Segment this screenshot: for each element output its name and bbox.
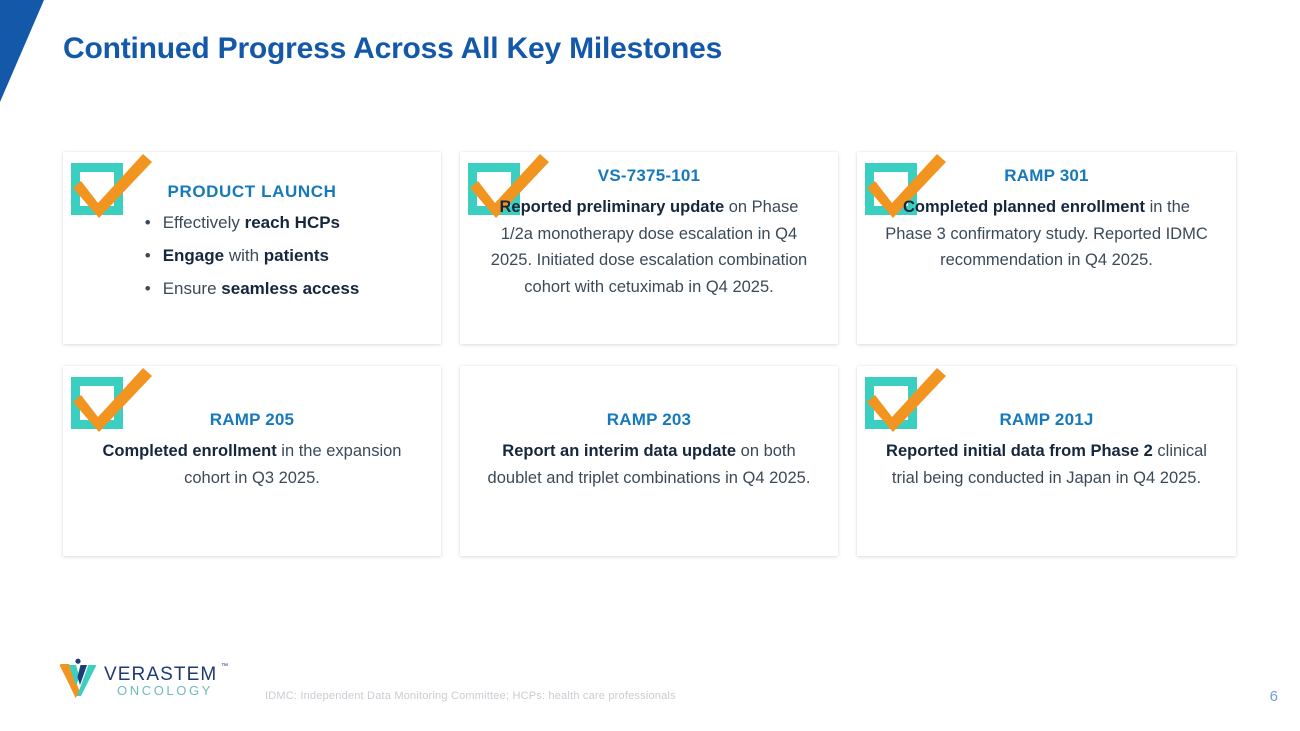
svg-text:™: ™	[221, 663, 228, 670]
card-body-text: Reported initial data from Phase 2 clini…	[882, 438, 1212, 491]
page-title: Continued Progress Across All Key Milest…	[63, 32, 722, 66]
card-content: RAMP 301Completed planned enrollment in …	[857, 152, 1236, 344]
card-body-text: Report an interim data update on both do…	[484, 438, 814, 491]
page-number: 6	[1270, 688, 1278, 705]
milestone-card-ramp-203: RAMP 203Report an interim data update on…	[460, 366, 838, 556]
verastem-logo: VERASTEM ™ ONCOLOGY	[58, 658, 238, 700]
card-bullet-list: Effectively reach HCPsEngage with patien…	[145, 214, 360, 313]
card-body-text: Completed enrollment in the expansion co…	[87, 438, 417, 491]
milestone-card-ramp-301: RAMP 301Completed planned enrollment in …	[857, 152, 1236, 344]
card-title-product-launch: PRODUCT LAUNCH	[168, 182, 337, 202]
milestone-card-product-launch: PRODUCT LAUNCHEffectively reach HCPsEnga…	[63, 152, 441, 344]
list-item: Engage with patients	[145, 247, 360, 264]
corner-wedge-decoration	[0, 0, 44, 102]
milestone-card-ramp-201j: RAMP 201JReported initial data from Phas…	[857, 366, 1236, 556]
svg-text:ONCOLOGY: ONCOLOGY	[117, 683, 213, 698]
card-title-vs-7375-101: VS-7375-101	[598, 166, 700, 186]
svg-text:VERASTEM: VERASTEM	[104, 664, 217, 685]
card-title-ramp-203: RAMP 203	[607, 410, 691, 430]
footnote-abbreviations: IDMC: Independent Data Monitoring Commit…	[265, 690, 676, 702]
milestone-card-ramp-205: RAMP 205Completed enrollment in the expa…	[63, 366, 441, 556]
list-item: Effectively reach HCPs	[145, 214, 360, 231]
milestone-card-vs-7375-101: VS-7375-101Reported preliminary update o…	[460, 152, 838, 344]
card-content: PRODUCT LAUNCHEffectively reach HCPsEnga…	[63, 152, 441, 344]
slide-root: Continued Progress Across All Key Milest…	[0, 0, 1300, 731]
card-content: RAMP 203Report an interim data update on…	[460, 366, 838, 556]
card-title-ramp-201j: RAMP 201J	[999, 410, 1093, 430]
card-body-text: Reported preliminary update on Phase 1/2…	[484, 194, 814, 300]
card-title-ramp-301: RAMP 301	[1004, 166, 1088, 186]
card-content: RAMP 201JReported initial data from Phas…	[857, 366, 1236, 556]
list-item: Ensure seamless access	[145, 280, 360, 297]
milestone-card-grid: PRODUCT LAUNCHEffectively reach HCPsEnga…	[63, 152, 1235, 556]
card-body-text: Completed planned enrollment in the Phas…	[882, 194, 1212, 273]
card-content: VS-7375-101Reported preliminary update o…	[460, 152, 838, 344]
card-title-ramp-205: RAMP 205	[210, 410, 294, 430]
card-content: RAMP 205Completed enrollment in the expa…	[63, 366, 441, 556]
